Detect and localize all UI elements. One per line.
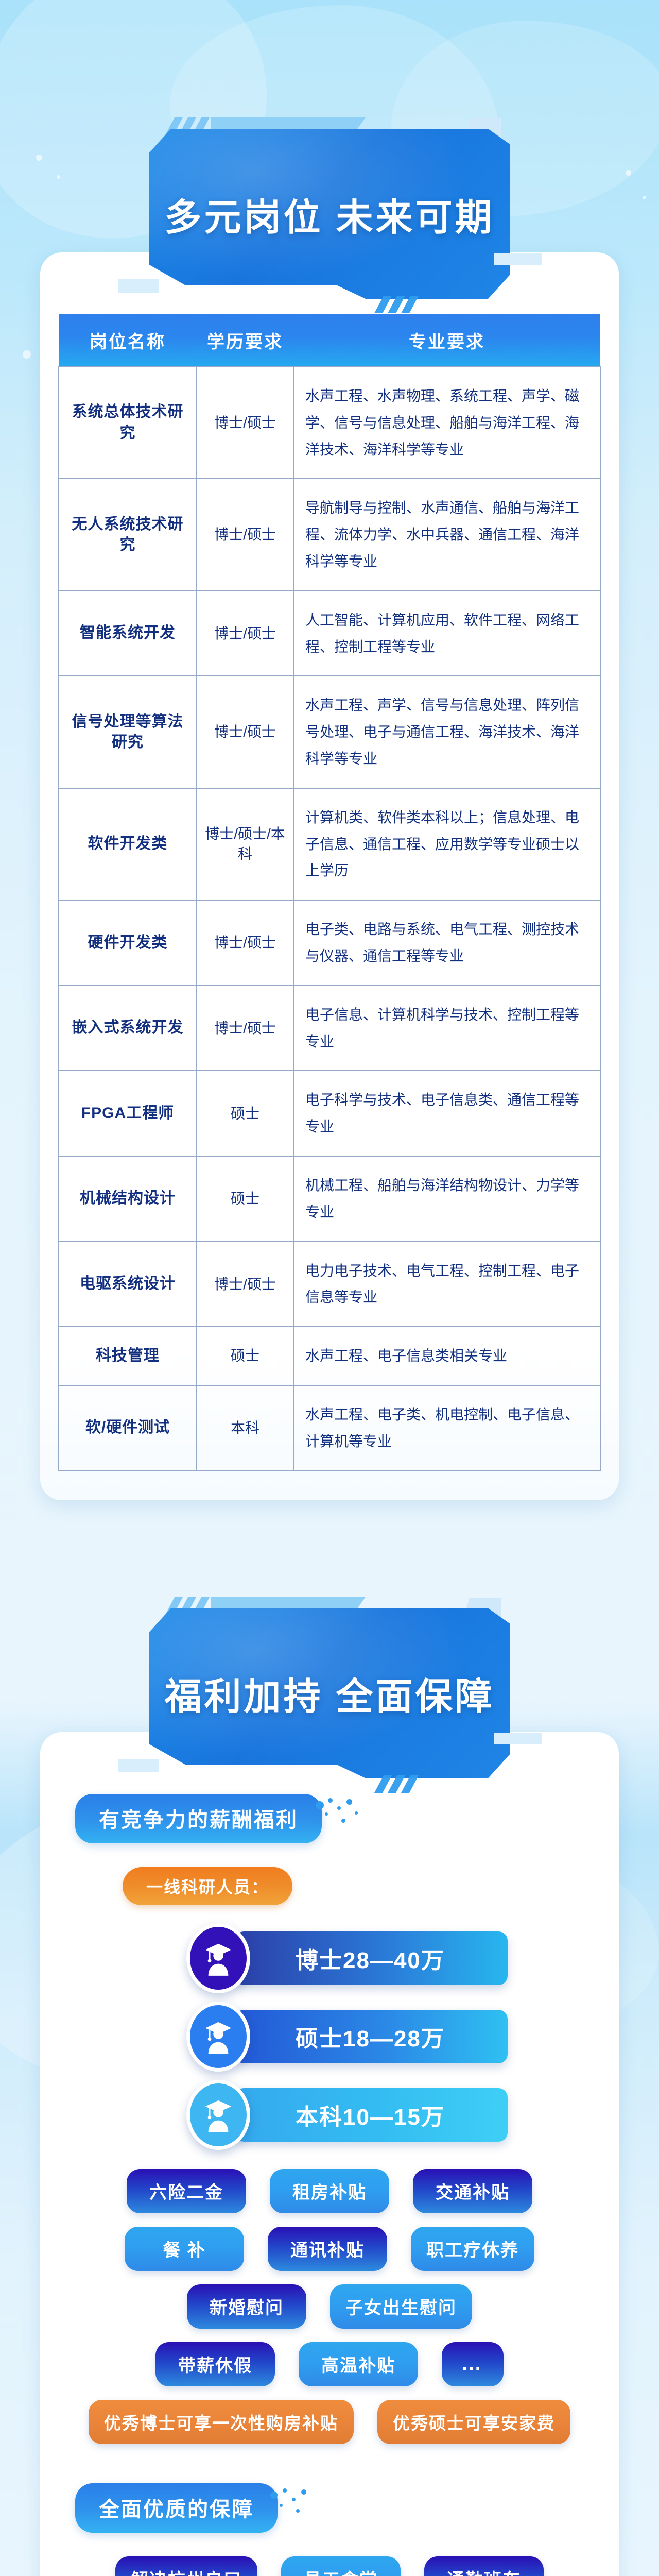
guarantee-pill-row: 解决杭州户口 员工食堂 通勤班车 [58, 2556, 601, 2576]
graduate-icon [186, 1923, 250, 1993]
guarantee-pill-hangzhou-hukou: 解决杭州户口 [115, 2556, 257, 2576]
table-row: 软/硬件测试本科水声工程、电子类、机电控制、电子信息、计算机等专业 [59, 1385, 600, 1471]
cell-job-name: 科技管理 [59, 1327, 197, 1385]
graduate-icon [186, 2080, 250, 2150]
table-row: 电驱系统设计博士/硕士电力电子技术、电气工程、控制工程、电子信息等专业 [59, 1242, 600, 1327]
salary-row-phd: 博士28—40万 [58, 1928, 601, 1989]
benefit-pill-row: 带薪休假 高温补贴 … [58, 2342, 601, 2386]
cell-education: 博士/硕士 [197, 1242, 293, 1327]
bubbles-icon [313, 1797, 362, 1830]
cell-job-name: 机械结构设计 [59, 1156, 197, 1242]
cell-education: 硕士 [197, 1327, 293, 1385]
bubble-decoration [643, 196, 646, 199]
cell-job-name: 嵌入式系统开发 [59, 986, 197, 1071]
benefit-pill-housing-allowance: 租房补贴 [270, 2169, 389, 2213]
hero-banner-benefits: 福利加持 全面保障 [149, 1608, 510, 1778]
salary-bar-bachelor: 本科10—15万 [235, 2088, 508, 2142]
cell-major: 电力电子技术、电气工程、控制工程、电子信息等专业 [293, 1242, 600, 1327]
cell-job-name: 信号处理等算法研究 [59, 676, 197, 788]
bubble-decoration [626, 170, 631, 176]
poster-page: 多元岗位 未来可期 岗位名称 学历要求 专业要求 系统总体技术研究博士/硕士水声… [0, 0, 659, 2576]
column-header-job-name: 岗位名称 [59, 314, 197, 367]
cell-major: 电子科学与技术、电子信息类、通信工程等专业 [293, 1071, 600, 1156]
benefit-pill-wedding-gift: 新婚慰问 [187, 2284, 306, 2329]
salary-row-bachelor: 本科10—15万 [58, 2084, 601, 2145]
benefit-pill-row: 六险二金 租房补贴 交通补贴 [58, 2169, 601, 2213]
benefit-pill-row: 优秀博士可享一次性购房补贴 优秀硕士可享安家费 [58, 2400, 601, 2444]
page-title: 多元岗位 未来可期 [149, 129, 510, 299]
cell-education: 博士/硕士 [197, 900, 293, 986]
benefit-pill-phd-housing-subsidy: 优秀博士可享一次性购房补贴 [89, 2400, 354, 2444]
cell-job-name: 电驱系统设计 [59, 1242, 197, 1327]
table-row: 软件开发类博士/硕士/本科计算机类、软件类本科以上；信息处理、电子信息、通信工程… [59, 788, 600, 900]
column-header-education: 学历要求 [197, 314, 293, 367]
salary-bar-master: 硕士18—28万 [235, 2010, 508, 2063]
table-row: 机械结构设计硕士机械工程、船舶与海洋结构物设计、力学等专业 [59, 1156, 600, 1242]
cell-job-name: 软/硬件测试 [59, 1385, 197, 1471]
bubble-decoration [57, 175, 60, 179]
graduate-icon [186, 2002, 250, 2072]
guarantee-pill-grid: 解决杭州户口 员工食堂 通勤班车 健身中心 所 服 [58, 2556, 601, 2576]
table-row: 系统总体技术研究博士/硕士水声工程、水声物理、系统工程、声学、磁学、信号与信息处… [59, 367, 600, 479]
cell-job-name: 系统总体技术研究 [59, 367, 197, 479]
section-heading-salary: 有竞争力的薪酬福利 [75, 1794, 322, 1843]
table-row: 嵌入式系统开发博士/硕士电子信息、计算机科学与技术、控制工程等专业 [59, 986, 600, 1071]
cell-job-name: 无人系统技术研究 [59, 479, 197, 590]
bubble-decoration [23, 350, 31, 359]
salary-row-master: 硕士18—28万 [58, 2006, 601, 2067]
cell-major: 水声工程、声学、信号与信息处理、阵列信号处理、电子与通信工程、海洋技术、海洋科学… [293, 676, 600, 788]
benefit-pill-communication-allowance: 通讯补贴 [268, 2227, 387, 2271]
jobs-table-body: 系统总体技术研究博士/硕士水声工程、水声物理、系统工程、声学、磁学、信号与信息处… [59, 367, 600, 1471]
hero-banner-jobs: 多元岗位 未来可期 [149, 129, 510, 299]
cell-education: 本科 [197, 1385, 293, 1471]
cell-education: 博士/硕士 [197, 676, 293, 788]
column-header-major: 专业要求 [293, 314, 600, 367]
benefit-pill-employee-recuperation: 职工疗休养 [411, 2227, 534, 2271]
cell-major: 水声工程、水声物理、系统工程、声学、磁学、信号与信息处理、船舶与海洋工程、海洋技… [293, 367, 600, 479]
cell-education: 博士/硕士 [197, 986, 293, 1071]
cell-major: 人工智能、计算机应用、软件工程、网络工程、控制工程等专业 [293, 591, 600, 676]
cell-major: 电子信息、计算机科学与技术、控制工程等专业 [293, 986, 600, 1071]
section-heading-guarantee-label: 全面优质的保障 [99, 2498, 254, 2521]
table-row: 科技管理硕士水声工程、电子信息类相关专业 [59, 1327, 600, 1385]
cell-major: 水声工程、电子类、机电控制、电子信息、计算机等专业 [293, 1385, 600, 1471]
benefit-pill-six-insurances: 六险二金 [127, 2169, 246, 2213]
table-row: 智能系统开发博士/硕士人工智能、计算机应用、软件工程、网络工程、控制工程等专业 [59, 591, 600, 676]
section-heading-guarantee: 全面优质的保障 [75, 2483, 278, 2533]
guarantee-pill-staff-canteen: 员工食堂 [281, 2556, 401, 2576]
benefits-card: 有竞争力的薪酬福利 一线科研人员： [40, 1732, 619, 2576]
benefit-pill-transport-allowance: 交通补贴 [413, 2169, 532, 2213]
cell-education: 博士/硕士/本科 [197, 788, 293, 900]
cell-education: 博士/硕士 [197, 367, 293, 479]
section-heading-salary-label: 有竞争力的薪酬福利 [99, 1809, 298, 1832]
jobs-table: 岗位名称 学历要求 专业要求 系统总体技术研究博士/硕士水声工程、水声物理、系统… [58, 314, 601, 1471]
guarantee-pill-commuter-shuttle: 通勤班车 [424, 2556, 544, 2576]
cell-major: 计算机类、软件类本科以上；信息处理、电子信息、通信工程、应用数学等专业硕士以上学… [293, 788, 600, 900]
bubble-decoration [36, 155, 42, 161]
benefit-pill-row: 新婚慰问 子女出生慰问 [58, 2284, 601, 2329]
table-row: 硬件开发类博士/硕士电子类、电路与系统、电气工程、测控技术与仪器、通信工程等专业 [59, 900, 600, 986]
salary-bar-phd: 博士28—40万 [235, 1931, 508, 1985]
benefit-pill-more-ellipsis: … [442, 2342, 504, 2386]
benefit-pill-grid: 六险二金 租房补贴 交通补贴 餐 补 通讯补贴 职工疗休养 新婚慰问 子女出生慰… [58, 2169, 601, 2444]
benefit-pill-row: 餐 补 通讯补贴 职工疗休养 [58, 2227, 601, 2271]
cell-education: 硕士 [197, 1071, 293, 1156]
benefit-pill-meal-allowance: 餐 补 [125, 2227, 244, 2271]
jobs-card: 岗位名称 学历要求 专业要求 系统总体技术研究博士/硕士水声工程、水声物理、系统… [40, 252, 619, 1500]
cell-major: 机械工程、船舶与海洋结构物设计、力学等专业 [293, 1156, 600, 1242]
cell-job-name: 硬件开发类 [59, 900, 197, 986]
cell-job-name: 智能系统开发 [59, 591, 197, 676]
cell-job-name: FPGA工程师 [59, 1071, 197, 1156]
cell-education: 硕士 [197, 1156, 293, 1242]
subheading-frontline-researchers: 一线科研人员： [123, 1867, 292, 1905]
cell-education: 博士/硕士 [197, 591, 293, 676]
cell-major: 水声工程、电子信息类相关专业 [293, 1327, 600, 1385]
benefit-pill-master-settling-fee: 优秀硕士可享安家费 [377, 2400, 570, 2444]
cell-major: 电子类、电路与系统、电气工程、测控技术与仪器、通信工程等专业 [293, 900, 600, 986]
benefits-title: 福利加持 全面保障 [149, 1608, 510, 1778]
benefit-pill-heat-allowance: 高温补贴 [299, 2342, 418, 2386]
cell-major: 导航制导与控制、水声通信、船舶与海洋工程、流体力学、水中兵器、通信工程、海洋科学… [293, 479, 600, 590]
table-row: 无人系统技术研究博士/硕士导航制导与控制、水声通信、船舶与海洋工程、流体力学、水… [59, 479, 600, 590]
benefit-pill-paid-leave: 带薪休假 [155, 2342, 275, 2386]
bubbles-icon [268, 2486, 318, 2519]
salary-list: 博士28—40万 硕士18—28万 [58, 1928, 601, 2145]
table-header-row: 岗位名称 学历要求 专业要求 [59, 314, 600, 367]
benefit-pill-childbirth-gift: 子女出生慰问 [330, 2284, 472, 2329]
cell-job-name: 软件开发类 [59, 788, 197, 900]
table-row: 信号处理等算法研究博士/硕士水声工程、声学、信号与信息处理、阵列信号处理、电子与… [59, 676, 600, 788]
cell-education: 博士/硕士 [197, 479, 293, 590]
table-row: FPGA工程师硕士电子科学与技术、电子信息类、通信工程等专业 [59, 1071, 600, 1156]
